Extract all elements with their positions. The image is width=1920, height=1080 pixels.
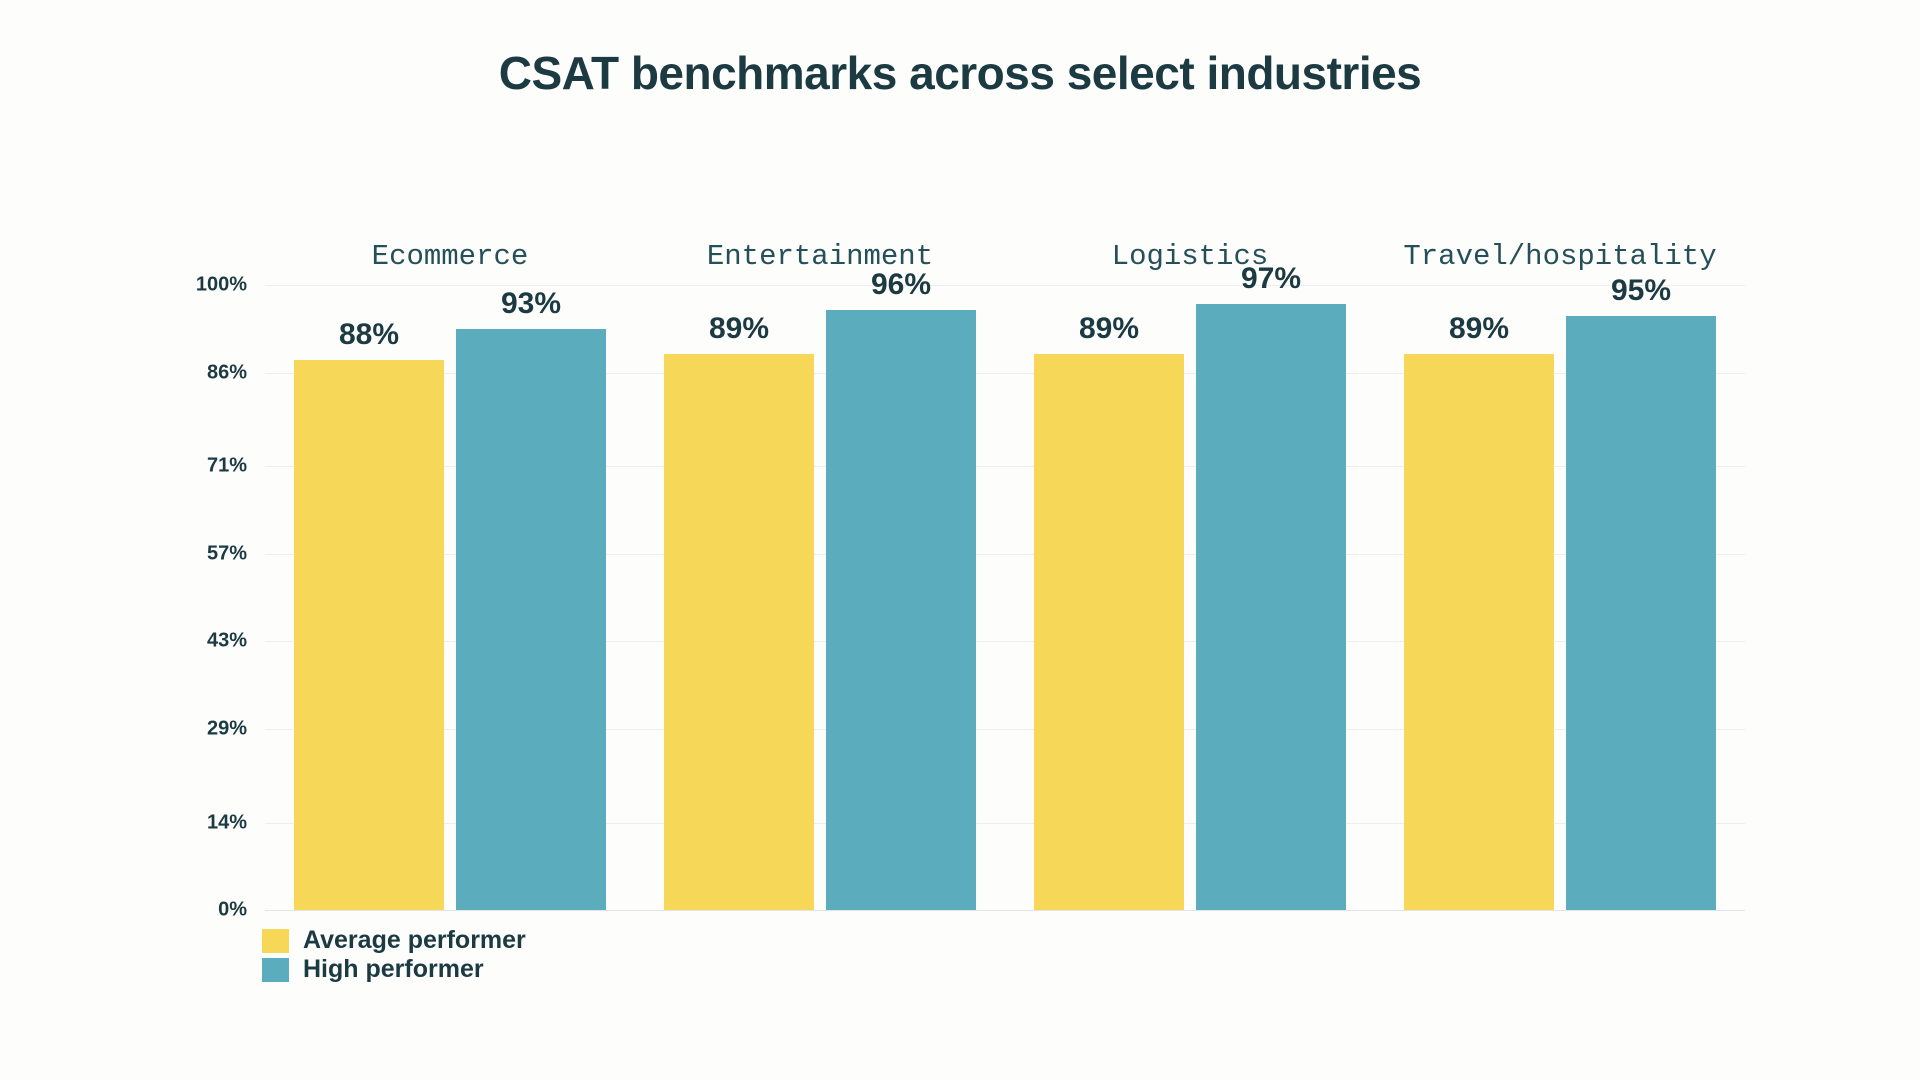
plot-area: Ecommerce88%93%Entertainment89%96%Logist…: [265, 285, 1745, 910]
category-label: Ecommerce: [265, 240, 635, 273]
legend-swatch-icon: [262, 929, 289, 953]
bar-value-label: 89%: [1379, 312, 1579, 346]
y-axis-tick-label: 43%: [137, 630, 247, 653]
bar-value-label: 89%: [1009, 312, 1209, 346]
bar-slot: 89%: [1404, 285, 1554, 910]
bar[interactable]: [1404, 354, 1554, 910]
y-axis-tick-label: 57%: [137, 542, 247, 565]
bar-slot: 95%: [1566, 285, 1716, 910]
legend-swatch-icon: [262, 958, 289, 982]
bar-slot: 97%: [1196, 285, 1346, 910]
bar-slot: 96%: [826, 285, 976, 910]
page-title: CSAT benchmarks across select industries: [0, 46, 1920, 100]
bar-group: Travel/hospitality89%95%: [1375, 285, 1745, 910]
bar-value-label: 88%: [269, 318, 469, 352]
bar[interactable]: [456, 329, 606, 910]
y-axis-tick-label: 14%: [137, 811, 247, 834]
bar-slot: 93%: [456, 285, 606, 910]
legend-label: Average performer: [303, 926, 526, 955]
bar-value-label: 93%: [431, 287, 631, 321]
bar[interactable]: [826, 310, 976, 910]
bars: 89%95%: [1375, 285, 1745, 910]
bar-value-label: 96%: [801, 268, 1001, 302]
bar-group: Ecommerce88%93%: [265, 285, 635, 910]
legend-item-high-performer[interactable]: High performer: [262, 955, 526, 984]
category-label: Travel/hospitality: [1375, 240, 1745, 273]
bar-group: Entertainment89%96%: [635, 285, 1005, 910]
bar-value-label: 97%: [1171, 262, 1371, 296]
bar[interactable]: [1196, 304, 1346, 910]
bar-slot: 89%: [664, 285, 814, 910]
bars: 88%93%: [265, 285, 635, 910]
y-axis-tick-label: 71%: [137, 455, 247, 478]
bar-group: Logistics89%97%: [1005, 285, 1375, 910]
gridline: [265, 910, 1745, 911]
legend-item-average-performer[interactable]: Average performer: [262, 926, 526, 955]
bar-slot: 89%: [1034, 285, 1184, 910]
bar-slot: 88%: [294, 285, 444, 910]
y-axis-tick-label: 29%: [137, 717, 247, 740]
bar[interactable]: [294, 360, 444, 910]
bar-value-label: 95%: [1541, 274, 1741, 308]
y-axis-tick-label: 100%: [137, 274, 247, 297]
bar-value-label: 89%: [639, 312, 839, 346]
bar[interactable]: [664, 354, 814, 910]
y-axis-tick-label: 86%: [137, 361, 247, 384]
y-axis-tick-label: 0%: [137, 899, 247, 922]
chart-canvas: CSAT benchmarks across select industries…: [0, 0, 1920, 1080]
legend: Average performer High performer: [262, 926, 526, 984]
legend-label: High performer: [303, 955, 484, 984]
bar[interactable]: [1566, 316, 1716, 910]
bars: 89%97%: [1005, 285, 1375, 910]
bar[interactable]: [1034, 354, 1184, 910]
bars: 89%96%: [635, 285, 1005, 910]
